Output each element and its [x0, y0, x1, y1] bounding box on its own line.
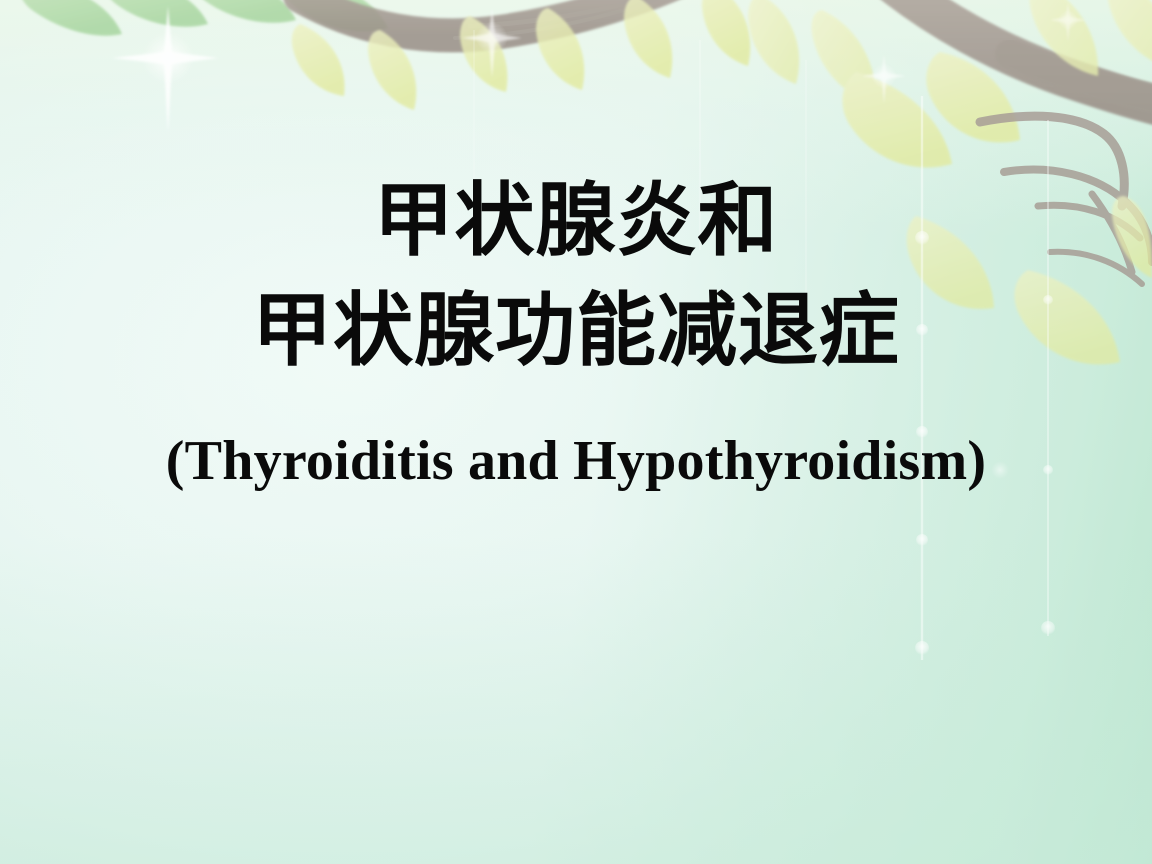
leaf-shape	[19, 0, 123, 36]
strand-bead	[1041, 621, 1055, 635]
strand-bead	[916, 534, 928, 546]
leaf-shape	[702, 0, 750, 66]
slide-subtitle: (Thyroiditis and Hypothyroidism)	[0, 428, 1152, 494]
branch-top-right	[876, 0, 1152, 106]
leaf-shape	[624, 0, 672, 78]
leaf-shape	[748, 0, 799, 84]
slide-title: 甲状腺炎和 甲状腺功能减退症	[0, 178, 1152, 375]
leaf-shape	[1107, 0, 1152, 70]
title-line-primary: 甲状腺炎和	[0, 178, 1152, 264]
leaf-shape	[193, 0, 296, 23]
leaf-shape	[292, 24, 345, 96]
presentation-slide: 甲状腺炎和 甲状腺功能减退症 (Thyroiditis and Hypothyr…	[0, 0, 1152, 864]
title-line-secondary: 甲状腺功能减退症	[0, 288, 1152, 374]
strand-bead	[915, 641, 929, 655]
leaf-shape	[104, 0, 208, 27]
